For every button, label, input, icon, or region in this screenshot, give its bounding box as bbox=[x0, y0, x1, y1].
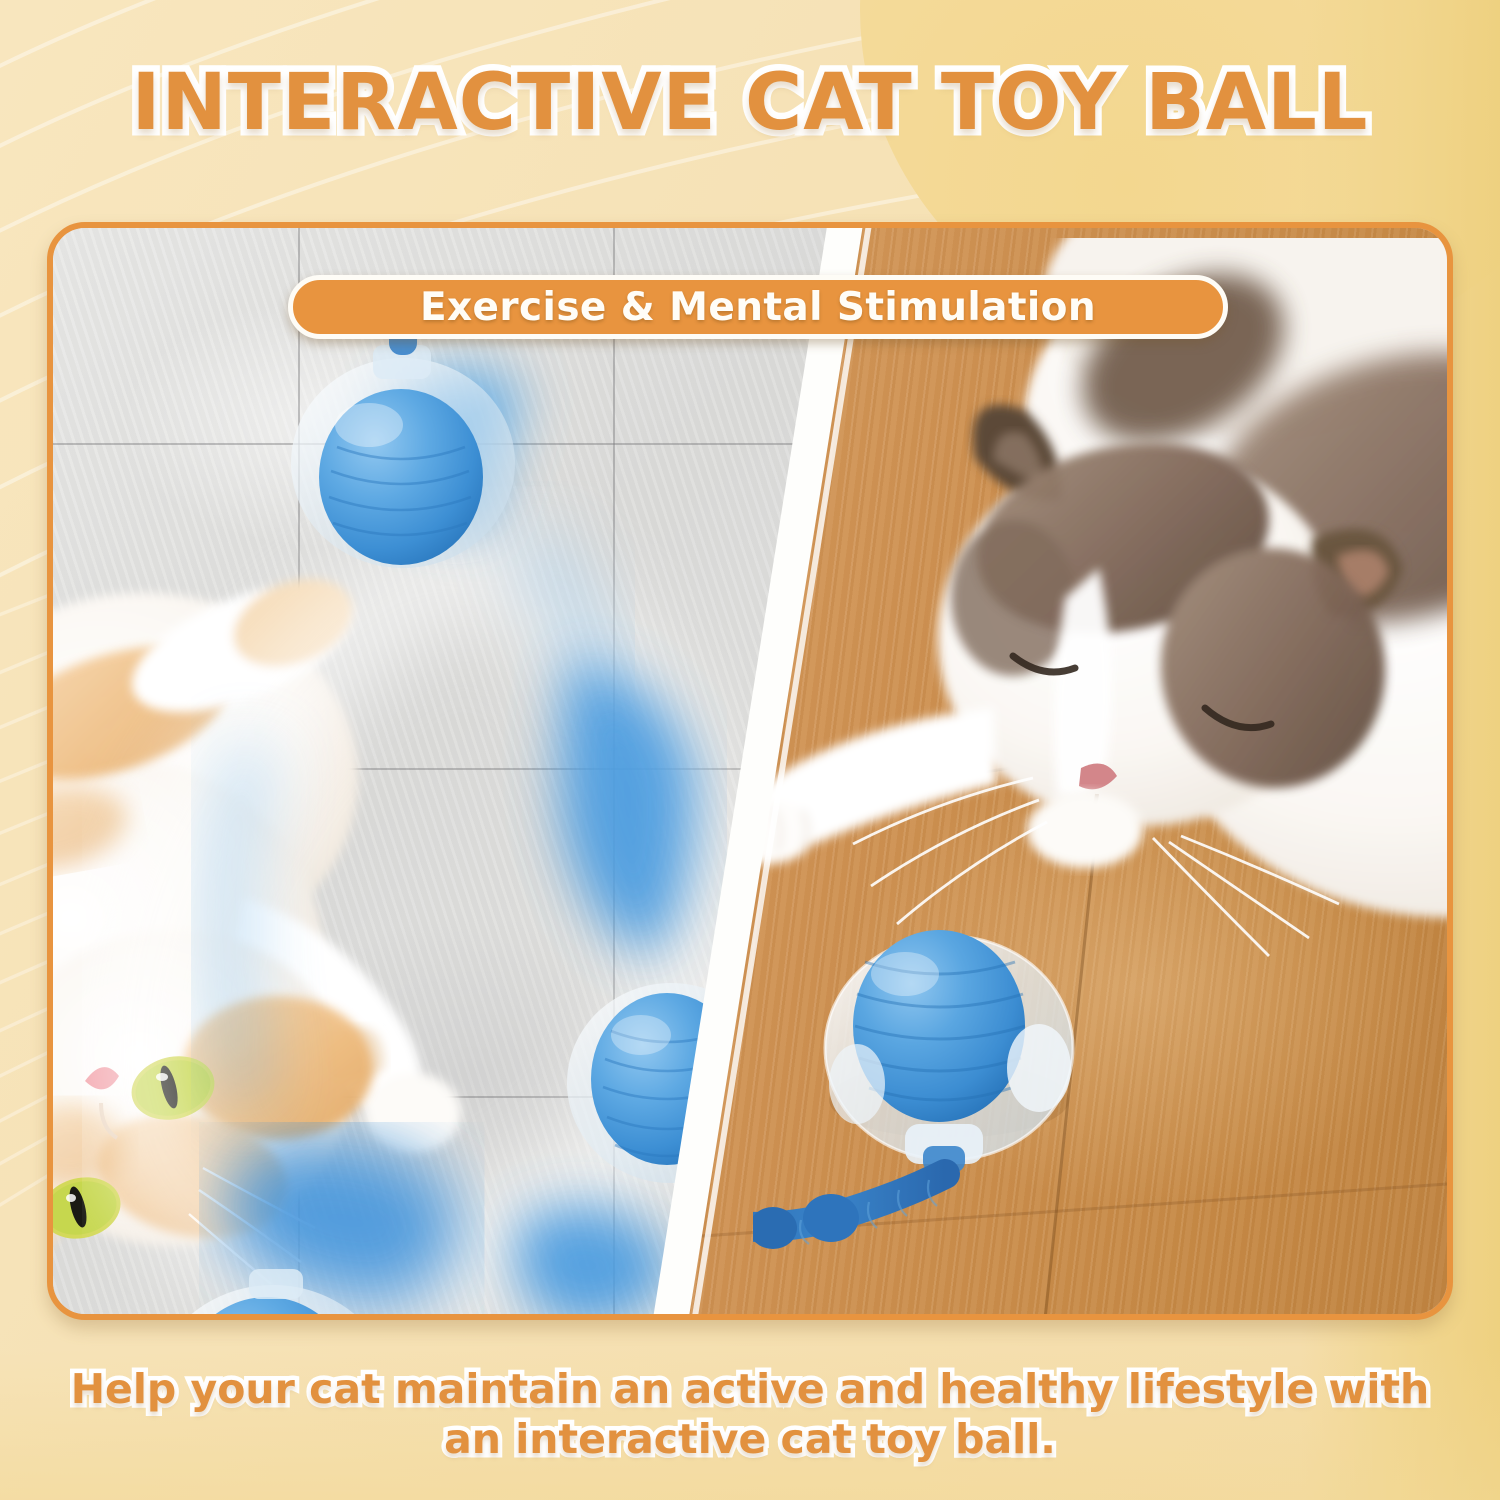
page-caption: Help your cat maintain an active and hea… bbox=[60, 1364, 1440, 1464]
feature-badge-label: Exercise & Mental Stimulation bbox=[420, 285, 1096, 330]
product-photo-collage bbox=[47, 222, 1453, 1320]
page-title: INTERACTIVE CAT TOY BALL bbox=[0, 58, 1500, 148]
toy-ball-with-rope-tail bbox=[753, 888, 1173, 1288]
feature-badge: Exercise & Mental Stimulation bbox=[288, 275, 1228, 339]
